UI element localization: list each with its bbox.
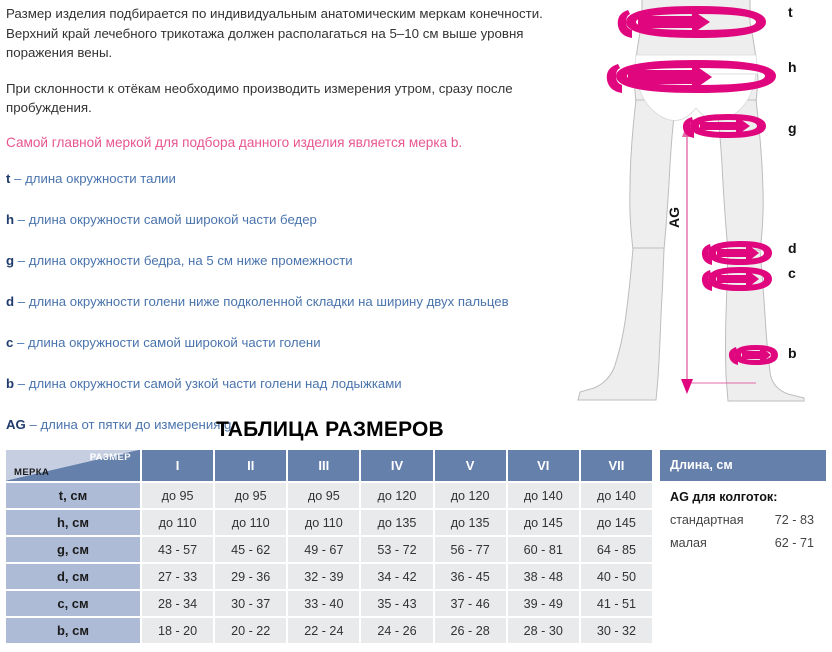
legend-key-d: d [6,294,14,309]
cell-c-6: 39 - 49 [506,589,579,616]
length-row-small: малая 62 - 71 [660,527,826,550]
cell-d-3: 32 - 39 [286,562,359,589]
cell-t-3: до 95 [286,481,359,508]
cell-c-7: 41 - 51 [579,589,652,616]
cell-b-1: 18 - 20 [140,616,213,643]
table-row: t, см до 95 до 95 до 95 до 120 до 120 до… [6,481,652,508]
legend-item-c: c – длина окружности самой широкой части… [6,334,558,352]
cell-t-7: до 140 [579,481,652,508]
cell-c-5: 37 - 46 [433,589,506,616]
table-corner-header: РАЗМЕР МЕРКА [6,450,140,481]
legend-text-h: длина окружности самой широкой части бед… [29,212,317,227]
key-measurement-highlight: Самой главной меркой для подбора данного… [6,133,558,152]
instructions-and-diagram-section: Размер изделия подбирается по индивидуал… [0,0,832,405]
legend-text-c: длина окружности самой широкой части гол… [28,335,321,350]
cell-g-3: 49 - 67 [286,535,359,562]
legend-text-g: длина окружности бедра, на 5 см ниже про… [29,253,353,268]
cell-b-7: 30 - 32 [579,616,652,643]
intro-paragraph-2: При склонности к отёкам необходимо произ… [6,79,558,118]
row-label-c: c, см [6,589,140,616]
legend-text-t: длина окружности талии [25,171,176,186]
cell-h-2: до 110 [213,508,286,535]
table-row: d, см 27 - 33 29 - 36 32 - 39 34 - 42 36… [6,562,652,589]
cell-g-5: 56 - 77 [433,535,506,562]
cell-c-3: 33 - 40 [286,589,359,616]
legend-key-h: h [6,212,14,227]
panel-divider [654,450,656,574]
diagram-label-h: h [788,59,797,75]
cell-t-2: до 95 [213,481,286,508]
row-label-b: b, см [6,616,140,643]
cell-b-2: 20 - 22 [213,616,286,643]
cell-b-6: 28 - 30 [506,616,579,643]
corner-size-label: РАЗМЕР [90,452,131,463]
cell-h-6: до 145 [506,508,579,535]
cell-b-4: 24 - 26 [359,616,432,643]
legend-key-b: b [6,376,14,391]
legend-key-c: c [6,335,13,350]
column-header-1: I [140,450,213,481]
legend-dash-g: – [18,253,25,268]
cell-d-1: 27 - 33 [140,562,213,589]
row-label-g: g, см [6,535,140,562]
column-header-4: IV [359,450,432,481]
diagram-label-b: b [788,345,797,361]
column-header-7: VII [579,450,652,481]
cell-t-1: до 95 [140,481,213,508]
legend-dash-t: – [14,171,21,186]
length-row-standard: стандартная 72 - 83 [660,504,826,527]
cell-d-6: 38 - 48 [506,562,579,589]
length-panel: Длина, см AG для колготок: стандартная 7… [660,450,826,550]
row-label-d: d, см [6,562,140,589]
table-row: g, см 43 - 57 45 - 62 49 - 67 53 - 72 56… [6,535,652,562]
column-header-2: II [213,450,286,481]
cell-b-5: 26 - 28 [433,616,506,643]
column-header-5: V [433,450,506,481]
legend-dash-d: – [18,294,25,309]
cell-h-7: до 145 [579,508,652,535]
legend-item-b: b – длина окружности самой узкой части г… [6,375,558,393]
cell-b-3: 22 - 24 [286,616,359,643]
cell-d-7: 40 - 50 [579,562,652,589]
diagram-label-t: t [788,4,793,20]
legend-item-h: h – длина окружности самой широкой части… [6,211,558,229]
instructions-text-column: Размер изделия подбирается по индивидуал… [6,4,558,457]
cell-t-4: до 120 [359,481,432,508]
legend-item-t: t – длина окружности талии [6,170,558,188]
column-header-3: III [286,450,359,481]
length-panel-subtitle: AG для колготок: [660,481,826,504]
legend-key-t: t [6,171,10,186]
cell-t-5: до 120 [433,481,506,508]
row-label-h: h, см [6,508,140,535]
length-row-small-name: малая [670,536,707,550]
corner-measure-label: МЕРКА [14,467,49,478]
table-row: h, см до 110 до 110 до 110 до 135 до 135… [6,508,652,535]
cell-d-4: 34 - 42 [359,562,432,589]
cell-h-4: до 135 [359,508,432,535]
legend-dash-c: – [17,335,24,350]
size-table: РАЗМЕР МЕРКА I II III IV V VI VII t, см … [6,450,652,643]
row-label-t: t, см [6,481,140,508]
cell-t-6: до 140 [506,481,579,508]
cell-d-5: 36 - 45 [433,562,506,589]
table-row: b, см 18 - 20 20 - 22 22 - 24 24 - 26 26… [6,616,652,643]
diagram-label-c: c [788,265,796,281]
table-row: c, см 28 - 34 30 - 37 33 - 40 35 - 43 37… [6,589,652,616]
length-panel-header: Длина, см [660,450,826,481]
cell-h-1: до 110 [140,508,213,535]
cell-g-1: 43 - 57 [140,535,213,562]
size-table-title: ТАБЛИЦА РАЗМЕРОВ [0,418,660,442]
intro-paragraph-1: Размер изделия подбирается по индивидуал… [6,4,558,63]
diagram-label-d: d [788,240,797,256]
column-header-6: VI [506,450,579,481]
legend-text-b: длина окружности самой узкой части голен… [29,376,402,391]
length-row-standard-name: стандартная [670,513,744,527]
legend-text-d: длина окружности голени ниже подколенной… [29,294,509,309]
length-row-standard-value: 72 - 83 [775,513,814,527]
band-d [702,241,772,265]
cell-h-3: до 110 [286,508,359,535]
diagram-label-g: g [788,120,797,136]
length-row-small-value: 62 - 71 [775,536,814,550]
table-header-row: РАЗМЕР МЕРКА I II III IV V VI VII [6,450,652,481]
diagram-label-ag: AG [666,207,682,228]
legend-item-d: d – длина окружности голени ниже подколе… [6,293,558,311]
cell-g-6: 60 - 81 [506,535,579,562]
cell-c-2: 30 - 37 [213,589,286,616]
cell-h-5: до 135 [433,508,506,535]
ag-arrow-down [681,379,693,394]
legend-dash-b: – [18,376,25,391]
cell-g-4: 53 - 72 [359,535,432,562]
legend-dash-h: – [18,212,25,227]
legend-item-g: g – длина окружности бедра, на 5 см ниже… [6,252,558,270]
cell-c-1: 28 - 34 [140,589,213,616]
cell-g-2: 45 - 62 [213,535,286,562]
cell-c-4: 35 - 43 [359,589,432,616]
cell-d-2: 29 - 36 [213,562,286,589]
legend-key-g: g [6,253,14,268]
cell-g-7: 64 - 85 [579,535,652,562]
